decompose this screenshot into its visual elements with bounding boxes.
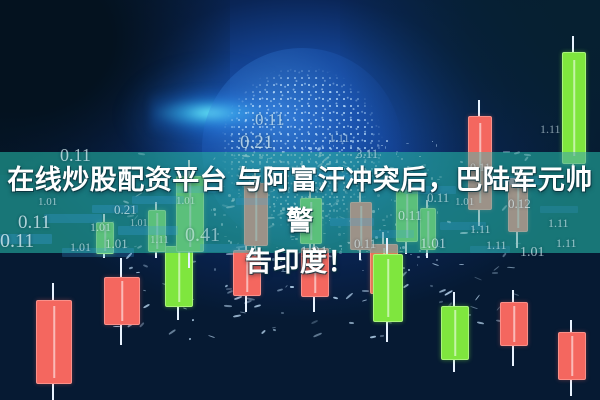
candle-body xyxy=(104,277,140,325)
headline-line-1: 在线炒股配资平台 与阿富汗冲突后，巴陆军元帅警 xyxy=(7,165,593,236)
candle-body xyxy=(500,302,528,346)
banner-image: 0.110.211.113.111.110.111.010.110.111.01… xyxy=(0,0,600,400)
candlestick-up xyxy=(441,292,467,372)
candle-body xyxy=(441,306,469,360)
candlestick-down xyxy=(36,283,70,400)
candlestick-down xyxy=(558,320,584,396)
candle-body xyxy=(558,332,586,380)
headline-line-2: 告印度！ xyxy=(245,247,355,277)
candle-body xyxy=(36,300,72,384)
candlestick-down xyxy=(500,290,526,366)
headline-text: 在线炒股配资平台 与阿富汗冲突后，巴陆军元帅警 告印度！ xyxy=(0,160,600,283)
